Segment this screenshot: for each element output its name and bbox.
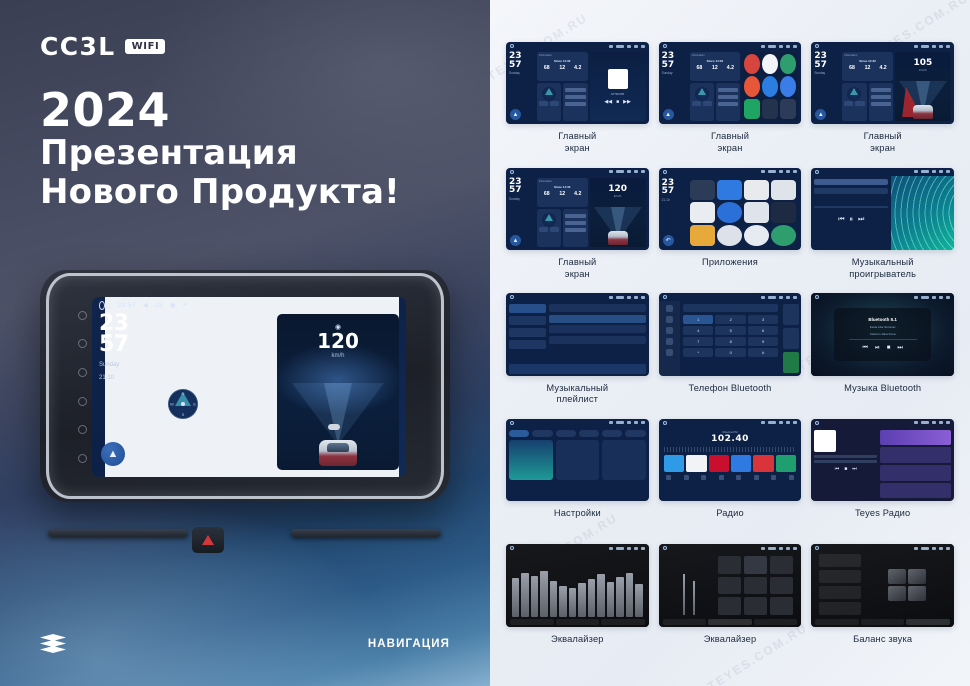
wifi-icon	[609, 547, 613, 550]
left-hero-panel: CC3L WIFI 2024 Презентация Нового Продук…	[0, 0, 490, 686]
back-icon[interactable]: ↶	[183, 301, 189, 309]
app-icon-play	[744, 99, 760, 120]
gallery-item[interactable]: 1 2 3 4 5 6 7 8 9 * 0 #	[659, 293, 802, 417]
thumbnail-radio[interactable]: Moscow FM 102.40	[659, 419, 802, 501]
back-icon	[946, 296, 950, 299]
thumbnail-bluetooth-phone[interactable]: 1 2 3 4 5 6 7 8 9 * 0 #	[659, 293, 802, 375]
compass-e: E	[193, 402, 196, 407]
playlist-sidebar	[509, 304, 546, 372]
thumb-status-bar	[811, 419, 954, 427]
status-time: 23:57	[118, 302, 136, 309]
thumb-status-bar	[659, 168, 802, 176]
preset-live	[770, 597, 793, 615]
dialer-screen: 1 2 3 4 5 6 7 8 9 * 0 #	[659, 301, 802, 375]
clock-date: 21.10	[99, 374, 151, 383]
track-artist-row	[814, 188, 888, 194]
playlist-screen	[506, 301, 649, 375]
eq-band	[559, 586, 566, 617]
clock-icon	[921, 296, 929, 299]
thumb-widgets: Information Since 14:32 68 12 4.2	[537, 52, 588, 121]
speed-unit: km/h	[895, 68, 951, 72]
dialpad-key-hash: #	[748, 348, 778, 357]
app-icon-settings	[762, 99, 778, 120]
dialpad-key-0: 0	[715, 348, 745, 357]
camera-icon	[634, 170, 638, 173]
hw-button-voldown-icon[interactable]	[78, 425, 87, 434]
hw-button-volup-icon[interactable]	[78, 454, 87, 463]
app-icon-google	[744, 225, 769, 246]
stat-duration: 12	[554, 65, 570, 71]
gallery-item[interactable]: 23 57 Sunday ▲ Information Since 14:32 6…	[811, 42, 954, 166]
thumb-home-body: 23 57 Sunday ▲ Information Since 14:32 6…	[506, 50, 649, 124]
gallery-caption: Главныйэкран	[558, 257, 596, 280]
hw-button-mute-icon[interactable]	[78, 311, 87, 320]
gallery-item[interactable]: Moscow FM 102.40 Р	[659, 419, 802, 543]
app-icon-youtube	[744, 54, 760, 74]
layers-icon-mid	[40, 640, 66, 647]
status-volume: 15	[155, 302, 163, 309]
thumb-status-bar	[811, 293, 954, 301]
thumb-widgets: Information Since 14:32 68 12 4.2	[690, 52, 741, 121]
eq-band	[569, 588, 576, 617]
speaker-rear-left	[888, 586, 906, 601]
headline-line-2: Нового Продукта!	[40, 173, 400, 212]
track-list	[549, 304, 646, 372]
eq-band	[607, 582, 614, 617]
gallery-item[interactable]: Эквалайзер	[506, 544, 649, 668]
stat-distance: 4.2	[570, 191, 586, 197]
volume-icon	[932, 547, 936, 550]
wifi-icon	[761, 170, 765, 173]
bt-track-artist: Cartoon Jana Kova	[870, 332, 896, 336]
wifi-icon	[761, 296, 765, 299]
clock-day: Sunday	[99, 361, 151, 370]
preset-vocal	[770, 577, 793, 594]
hw-button-home-icon[interactable]	[78, 368, 87, 377]
preset-flat	[744, 597, 767, 615]
dialpad-key-9: 9	[748, 337, 778, 346]
app-shortcut-panel	[742, 52, 798, 121]
thumb-clock-col: 23 57 Sunday ▲	[509, 178, 535, 247]
prev-icon: ⏮	[835, 466, 840, 472]
volume-icon	[932, 296, 936, 299]
sidebar-item-settings	[666, 349, 673, 356]
clock-icon	[768, 296, 776, 299]
preset-jazz	[770, 556, 793, 573]
home-icon	[510, 295, 514, 299]
location-widget	[869, 83, 893, 121]
gallery-item[interactable]: Эквалайзер	[659, 544, 802, 668]
stat-duration: 12	[554, 191, 570, 197]
thumb-lower	[690, 83, 741, 121]
bt-version-label: Bluetooth 5.1	[868, 317, 897, 322]
thumbnail-playlist[interactable]	[506, 293, 649, 375]
thumb-minutes: 57	[509, 61, 535, 70]
app-icon-maps	[780, 54, 796, 74]
compass-n: N	[182, 391, 185, 396]
app-icon-bluetooth-music	[744, 180, 769, 201]
stat-speed: 68	[539, 191, 555, 197]
thumbnail-bluetooth-music[interactable]: Bluetooth 5.1 Feels Like Summer Cartoon …	[811, 293, 954, 375]
compass-widget	[537, 209, 561, 247]
volume-icon	[627, 421, 631, 424]
play-pause-icon: ⏯	[875, 345, 880, 352]
settings-screen	[506, 427, 649, 501]
wifi-icon	[761, 45, 765, 48]
eq-band	[540, 571, 547, 617]
hazard-triangle-icon	[202, 535, 214, 545]
teyes-now-playing: ⏮ ■ ⏭	[814, 430, 877, 498]
back-icon	[793, 296, 797, 299]
home-icon	[815, 44, 819, 48]
volume-icon	[779, 547, 783, 550]
compass-rose: N E S W	[168, 389, 198, 419]
card-network	[602, 440, 646, 480]
compass-rose	[695, 87, 709, 101]
clock-icon	[768, 421, 776, 424]
compass-w: W	[170, 402, 174, 407]
track-title-row	[814, 179, 888, 185]
sidebar-item-dialpad	[666, 305, 673, 312]
speed-unit: km/h	[277, 353, 399, 359]
clock-column: 23 57 Sunday 21.10 ▲	[99, 314, 151, 470]
gallery-caption: Эквалайзер	[704, 634, 757, 646]
gallery-item[interactable]: Bluetooth 5.1 Feels Like Summer Cartoon …	[811, 293, 954, 417]
tab-sound	[532, 430, 552, 437]
thumbnail-home-apps[interactable]: 23 57 Sunday ▲ Information Since 14:32 6…	[659, 42, 802, 124]
eq-band	[683, 574, 685, 615]
thumb-status-bar	[659, 544, 802, 552]
back-icon	[641, 296, 645, 299]
eq-band	[578, 583, 585, 617]
car-window	[327, 443, 349, 452]
sidebar-item-history	[666, 338, 673, 345]
gallery-caption: Настройки	[554, 508, 601, 520]
app-grid	[688, 179, 799, 247]
tab-balance	[556, 619, 600, 625]
gallery-item[interactable]: 23 57 Sunday ▲ Information Since 14:32 6…	[659, 42, 802, 166]
thumb-home-body: 23 57 Sunday ▲ Information Since 14:32 6…	[506, 176, 649, 250]
app-icon-contacts	[744, 202, 769, 223]
navigation-label: НАВИГАЦИЯ	[368, 638, 450, 650]
equalizer-sliders	[512, 554, 643, 616]
wifi-icon	[609, 45, 613, 48]
hazard-button[interactable]	[192, 527, 224, 553]
car-illustration	[913, 105, 933, 119]
tab-preset	[601, 619, 645, 625]
back-icon	[641, 547, 645, 550]
sidebar-item-tracks	[509, 304, 546, 313]
hw-button-back-icon[interactable]	[78, 397, 87, 406]
compass-s: S	[182, 412, 185, 417]
back-icon	[793, 170, 797, 173]
clock-minutes: 57	[99, 335, 151, 356]
track-line	[814, 455, 877, 458]
tab-eq	[510, 619, 554, 625]
status-icons	[914, 45, 950, 48]
dialpad-key-6: 6	[748, 326, 778, 335]
clock-icon	[616, 45, 624, 48]
visualizer	[891, 176, 954, 250]
settings-cards	[509, 440, 646, 480]
volume-icon	[932, 45, 936, 48]
speaker-front-left	[888, 569, 906, 584]
hw-button-power-icon[interactable]	[78, 339, 87, 348]
gallery-caption: Телефон Bluetooth	[688, 383, 771, 395]
dialpad-key-star: *	[683, 348, 713, 357]
gallery-item[interactable]: 23 57 Sunday ▲ Information Since 14:32 6…	[506, 42, 649, 166]
stop-icon: ■	[844, 466, 847, 472]
app-icon-dvr	[771, 202, 796, 223]
dialer-actions	[781, 301, 801, 375]
camera-icon	[786, 547, 790, 550]
eq-band	[512, 578, 519, 617]
preset-driver	[819, 554, 861, 567]
thumbnail-sound-balance[interactable]	[811, 544, 954, 626]
thumb-minutes: 57	[662, 187, 688, 196]
thumbnail-teyes-radio[interactable]: ⏮ ■ ⏭	[811, 419, 954, 501]
car-roof	[328, 424, 340, 430]
teyes-controls: ⏮ ■ ⏭	[814, 466, 877, 472]
list-item	[549, 325, 646, 333]
headline-line-1: Презентация	[40, 134, 400, 173]
stat-duration: 12	[707, 65, 723, 71]
gallery-item[interactable]: ⏮ ⏸ ⏭ Музыкальныйпроигрыватель	[811, 168, 954, 292]
thumb-widgets: Information Since 14:32 68 12 4.2	[537, 178, 588, 247]
volume-icon	[627, 170, 631, 173]
wifi-icon	[914, 45, 918, 48]
gallery-caption: Баланс звука	[853, 634, 912, 646]
wifi-icon	[609, 170, 613, 173]
gallery-item[interactable]: 23 57 21.10 ↶	[659, 168, 802, 292]
eq-tabs	[663, 619, 798, 625]
thumbnail-settings[interactable]	[506, 419, 649, 501]
home-icon	[815, 546, 819, 550]
hardware-button-strip[interactable]	[74, 301, 90, 473]
progress-bar	[849, 339, 917, 341]
bt-track-title: Feels Like Summer	[870, 325, 896, 329]
tab-eq	[815, 619, 859, 625]
thumb-status-bar	[506, 168, 649, 176]
player-screen: ⏮ ⏸ ⏭	[811, 176, 954, 250]
preset-classic	[718, 577, 741, 594]
back-icon	[793, 45, 797, 48]
gallery-item[interactable]: Музыкальныйплейлист	[506, 293, 649, 417]
camera-icon	[634, 547, 638, 550]
prev-icon: ◀◀	[604, 99, 612, 105]
dialpad-key-7: 7	[683, 337, 713, 346]
thumbnail-equalizer-simple[interactable]	[659, 544, 802, 626]
tab-display	[556, 430, 576, 437]
back-icon	[641, 45, 645, 48]
road-view-widget: 120km/h	[590, 178, 646, 247]
thumb-lower	[842, 83, 893, 121]
preset-front	[819, 570, 861, 583]
thumbnail-home-warning[interactable]: 23 57 Sunday ▲ Information Since 14:32 6…	[811, 42, 954, 124]
thumbnail-music-player[interactable]: ⏮ ⏸ ⏭	[811, 168, 954, 250]
gallery-item[interactable]: ⏮ ■ ⏭ Teyes Радио	[811, 419, 954, 543]
sidebar-item-favorites	[509, 328, 546, 337]
status-icons	[914, 547, 950, 550]
status-icons	[609, 45, 645, 48]
list-item	[880, 447, 951, 463]
head-unit-screen[interactable]: △ 23:57 ◀ 15 ◉ ↶ 23 57 Sunday 21.10 ▲	[92, 297, 406, 477]
location-widget	[563, 209, 587, 247]
gallery-caption: Teyes Радио	[855, 508, 910, 520]
wifi-icon	[914, 170, 918, 173]
gallery-item[interactable]: 23 57 Sunday ▲ Information Since 14:32 6…	[506, 168, 649, 292]
clock-icon	[768, 170, 776, 173]
speed-readout: 105km/h	[895, 58, 951, 72]
clock-icon	[921, 170, 929, 173]
thumb-day: Sunday	[814, 71, 840, 76]
speed-value: 120	[277, 331, 399, 351]
information-title: Information	[539, 180, 586, 183]
back-icon	[946, 170, 950, 173]
compass-rose	[542, 213, 556, 227]
mini-player-bar	[509, 364, 646, 374]
road-view-widget[interactable]: ◉ 120 km/h	[277, 314, 399, 470]
compass-needle-icon	[181, 402, 185, 406]
preset-all	[819, 602, 861, 615]
back-icon	[793, 547, 797, 550]
track-time: 07:50 PM	[611, 92, 624, 96]
speaker-grid	[888, 569, 926, 601]
gallery-caption: Главныйэкран	[711, 131, 749, 154]
thumb-day: Sunday	[662, 71, 688, 76]
next-icon: ⏭	[852, 466, 857, 472]
gallery-item[interactable]: Настройки	[506, 419, 649, 543]
app-icon-gallery	[762, 76, 778, 96]
compass-widget	[690, 83, 714, 121]
information-title: Information	[539, 54, 586, 57]
volume-icon	[779, 421, 783, 424]
thumbnail-apps[interactable]: 23 57 21.10 ↶	[659, 168, 802, 250]
stat-distance: 4.2	[723, 65, 739, 71]
album-art	[608, 69, 628, 89]
camera-icon	[939, 547, 943, 550]
navigation-arrow-icon: ▲	[815, 109, 826, 120]
gallery-caption: Музыкальныйпроигрыватель	[849, 257, 916, 280]
gallery-item[interactable]: Баланс звука	[811, 544, 954, 668]
volume-icon	[779, 45, 783, 48]
radio-frequency: 102.40	[662, 434, 799, 444]
camera-icon	[634, 296, 638, 299]
favorite-icon	[783, 304, 799, 325]
back-icon	[946, 547, 950, 550]
car-body	[319, 440, 357, 466]
home-icon	[815, 421, 819, 425]
phone-number-input	[683, 304, 778, 312]
eq-band	[531, 576, 538, 617]
camera-icon	[786, 170, 790, 173]
preset-custom	[744, 577, 767, 594]
eq-tabs	[815, 619, 950, 625]
sidebar-item-search	[666, 327, 673, 334]
back-icon: ↶	[663, 235, 674, 246]
gallery-caption: Радио	[716, 508, 744, 520]
information-widget: Information Since 14:32 68 12 4.2	[842, 52, 893, 81]
thumb-minutes: 57	[662, 61, 688, 70]
eq-band	[597, 574, 604, 616]
thumbnail-home-media[interactable]: 23 57 Sunday ▲ Information Since 14:32 6…	[506, 42, 649, 124]
car-illustration	[608, 231, 628, 245]
compass-readout	[539, 101, 559, 106]
thumbnail-home-road[interactable]: 23 57 Sunday ▲ Information Since 14:32 6…	[506, 168, 649, 250]
tab-eq	[663, 619, 707, 625]
camera-icon	[786, 45, 790, 48]
speed-value: 120	[608, 184, 627, 194]
thumb-home-body: 23 57 Sunday ▲ Information Since 14:32 6…	[811, 50, 954, 124]
screenshot-gallery-panel: TEYES.COM.RU TEYES.COM.RU TEYES.COM.RU T…	[490, 0, 970, 686]
speed-unit: km/h	[590, 194, 646, 198]
next-icon: ▶▶	[623, 99, 631, 105]
trip-since: Since 14:32	[539, 59, 586, 63]
navigation-arrow-icon: ▲	[663, 109, 674, 120]
app-icon-music	[744, 76, 760, 96]
wifi-icon	[761, 421, 765, 424]
headline-block: 2024 Презентация Нового Продукта!	[40, 86, 400, 212]
pause-icon: ⏸	[850, 216, 854, 224]
eq-band	[626, 573, 633, 617]
volume-icon	[627, 547, 631, 550]
app-icon-car	[690, 180, 715, 201]
trip-since: Since 14:32	[692, 59, 739, 63]
compass-widget	[842, 83, 866, 121]
tab-preset	[906, 619, 950, 625]
thumb-day: 21.10	[662, 198, 688, 203]
navigation-arrow-icon[interactable]: ▲	[101, 442, 125, 466]
thumb-day: Sunday	[509, 71, 535, 76]
thumb-day: Sunday	[509, 197, 535, 202]
headline-year: 2024	[40, 86, 400, 134]
thumb-lower	[537, 83, 588, 121]
stat-speed: 68	[539, 65, 555, 71]
gallery-caption: Музыкальныйплейлист	[546, 383, 608, 406]
thumb-widgets: Information Since 14:32 68 12 4.2	[842, 52, 893, 121]
gallery-caption: Главныйэкран	[864, 131, 902, 154]
compass-readout	[844, 101, 864, 106]
navigation-arrow-icon: ▲	[510, 109, 521, 120]
speaker-rear-right	[908, 586, 926, 601]
thumbnail-equalizer-bars[interactable]	[506, 544, 649, 626]
home-icon	[510, 170, 514, 174]
dialer-sidebar	[659, 301, 680, 375]
next-icon: ⏭	[858, 216, 864, 224]
app-icon-bluetooth	[717, 180, 742, 201]
wifi-icon	[761, 547, 765, 550]
status-icons	[609, 170, 645, 173]
layers-icon-bottom	[40, 646, 66, 653]
eq-band	[588, 579, 595, 616]
card-hotspot	[556, 440, 600, 480]
list-item	[549, 304, 646, 312]
teyes-radio-screen: ⏮ ■ ⏭	[811, 427, 954, 501]
compass-rose	[847, 87, 861, 101]
radio-screen: Moscow FM 102.40	[659, 427, 802, 501]
list-item	[549, 315, 646, 323]
thumb-status-bar	[506, 419, 649, 427]
album-art	[814, 430, 836, 452]
navigation-arrow-icon: ▲	[510, 235, 521, 246]
app-icon-calculator	[771, 180, 796, 201]
clock-icon	[921, 547, 929, 550]
camera-icon[interactable]: ◉	[170, 301, 176, 309]
app-icon-chrome	[717, 202, 742, 223]
eq-band	[635, 584, 642, 616]
volume-icon	[627, 45, 631, 48]
call-icon	[783, 352, 799, 373]
